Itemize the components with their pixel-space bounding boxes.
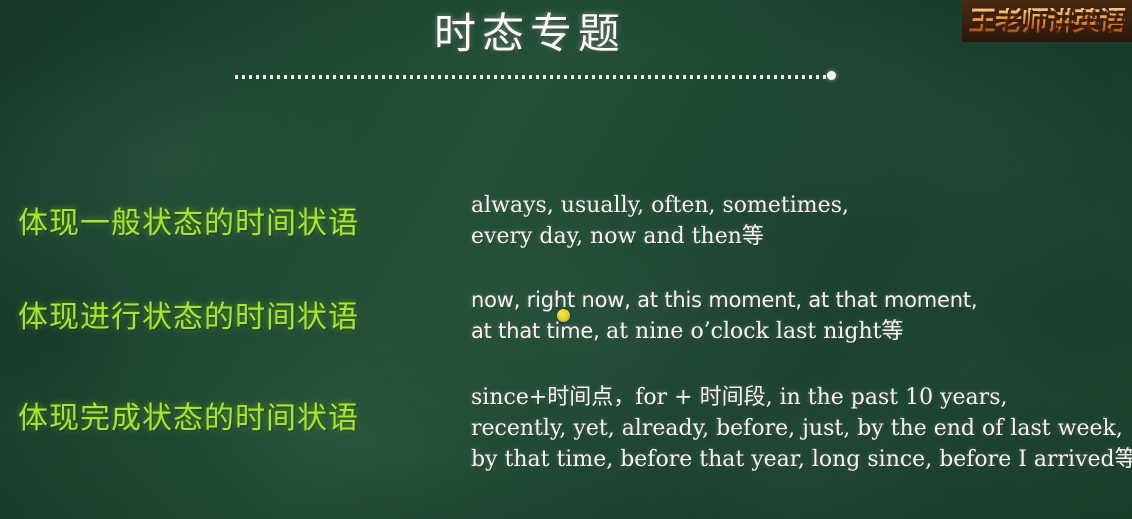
content-line: at that time, at nine o’clock last night… (471, 316, 977, 347)
content-line: now, right now, at this moment, at that … (471, 285, 977, 316)
chalkboard-slide: 王老师讲英语 时态专题 体现一般状态的时间状语 always, usually,… (0, 0, 1132, 519)
channel-logo-text: 王老师讲英语 (968, 8, 1126, 35)
row-label-progressive-state: 体现进行状态的时间状语 (18, 298, 448, 338)
content-line: recently, yet, already, before, just, by… (471, 413, 1132, 444)
row-content-perfect-state: since+时间点，for + 时间段, in the past 10 year… (471, 382, 1132, 475)
content-line: since+时间点，for + 时间段, in the past 10 year… (471, 382, 1132, 413)
channel-logo: 王老师讲英语 (962, 0, 1132, 42)
content-segment-serif: at nine o’clock last night等 (606, 319, 903, 344)
divider-dotted-line (235, 75, 827, 79)
divider-end-dot (827, 71, 836, 80)
content-line: always, usually, often, sometimes, (471, 190, 849, 221)
content-line: every day, now and then等 (471, 221, 849, 252)
row-label-simple-state: 体现一般状态的时间状语 (18, 204, 448, 244)
content-line: by that time, before that year, long sin… (471, 444, 1132, 475)
title-divider (235, 71, 835, 83)
cursor-dot (557, 309, 570, 322)
row-label-perfect-state: 体现完成状态的时间状语 (18, 399, 448, 439)
row-content-simple-state: always, usually, often, sometimes, every… (471, 190, 849, 252)
page-title: 时态专题 (0, 10, 1060, 58)
row-content-progressive-state: now, right now, at this moment, at that … (471, 285, 977, 347)
content-segment-sans: at that time, (471, 319, 606, 343)
